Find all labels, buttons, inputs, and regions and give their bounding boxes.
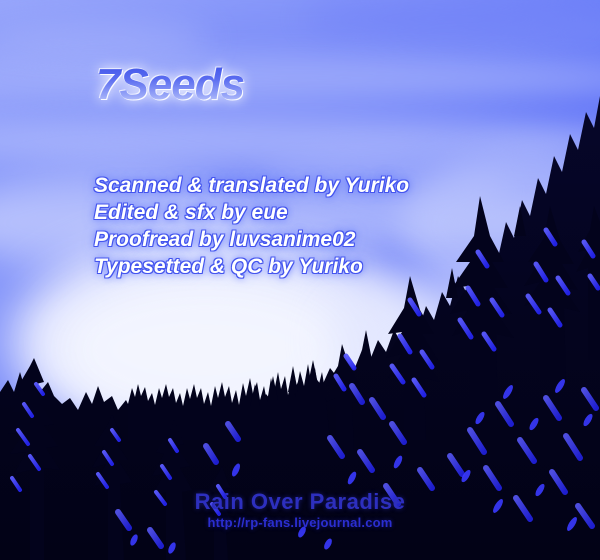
credit-line-proofread: Proofread by luvsanime02 [94,226,409,253]
scanlation-credits-image: 7Seeds Scanned & translated by Yuriko Ed… [0,0,600,560]
credit-line-typeset: Typesetted & QC by Yuriko [94,253,409,280]
page-title: 7Seeds [96,60,244,110]
watermark-url[interactable]: http://rp-fans.livejournal.com [0,514,600,531]
forest-ridge-silhouette [0,0,600,560]
credit-line-edited: Edited & sfx by eue [94,199,409,226]
credits-block: Scanned & translated by Yuriko Edited & … [94,172,409,280]
watermark-block: Rain Over Paradise http://rp-fans.livejo… [0,489,600,531]
watermark-group-name: Rain Over Paradise [0,489,600,514]
credit-line-scanned: Scanned & translated by Yuriko [94,172,409,199]
